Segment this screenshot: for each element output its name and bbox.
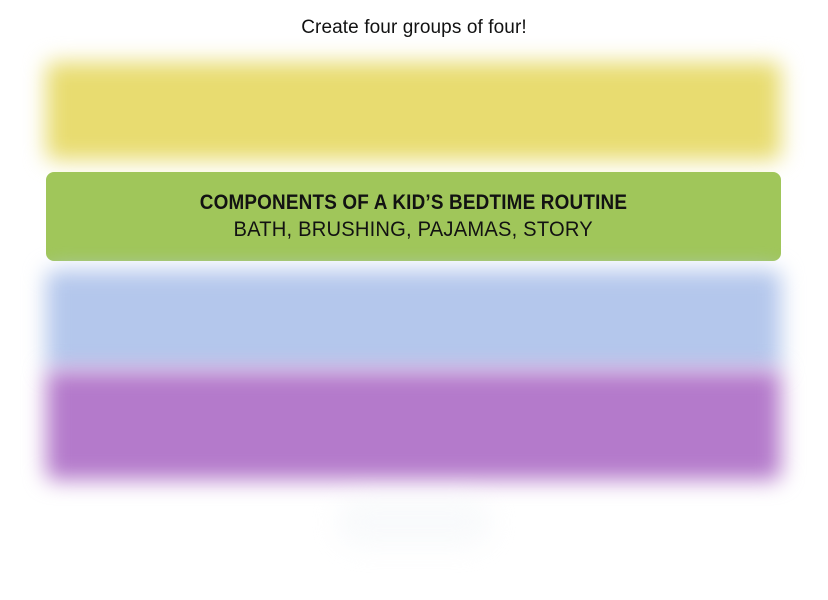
page-title: Create four groups of four!	[0, 14, 828, 42]
solved-group-row-yellow	[46, 62, 781, 160]
solved-group-row-purple	[46, 370, 781, 480]
solved-group-category: COMPONENTS OF A KID’S BEDTIME ROUTINE	[200, 190, 627, 216]
puzzle-page: Create four groups of four! COMPONENTS O…	[0, 0, 828, 600]
solved-group-members: BATH, BRUSHING, PAJAMAS, STORY	[234, 216, 593, 243]
solved-group-row-green: COMPONENTS OF A KID’S BEDTIME ROUTINE BA…	[46, 172, 781, 261]
solved-group-row-blue	[46, 270, 781, 370]
footer-action-button[interactable]	[339, 500, 489, 544]
